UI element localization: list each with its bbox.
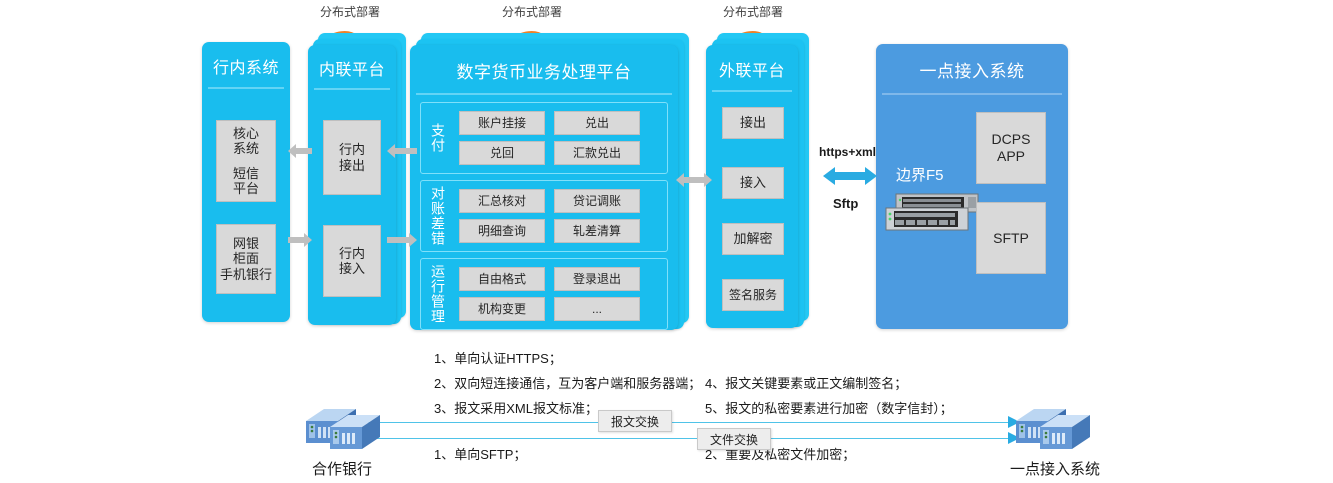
box-label: 签名服务 xyxy=(729,288,777,302)
note-left-1: 1、单向认证HTTPS； xyxy=(434,352,562,365)
panel-title-dcep-business-platform: 数字货币业务处理平台 xyxy=(410,45,678,83)
panel-intranet-platform[interactable]: 内联平台 行内 接出 行内 接入 xyxy=(308,45,396,325)
box-label-line-1: SFTP xyxy=(993,230,1029,247)
panel-external-platform[interactable]: 外联平台 接出 接入 加解密 签名服务 xyxy=(706,45,798,328)
box-label-line-4: 平台 xyxy=(233,181,259,196)
distributed-label-intranet: 分布式部署 xyxy=(305,3,395,20)
note-lower-left-1: 1、单向SFTP； xyxy=(434,448,526,461)
arrow-intranet-in-to-dcep xyxy=(387,232,417,248)
box-remittance-redeem-out[interactable]: 汇款兑出 xyxy=(554,141,640,165)
box-more[interactable]: ... xyxy=(554,297,640,321)
box-intranet-inbound[interactable]: 行内 接入 xyxy=(323,225,381,297)
box-summary-check[interactable]: 汇总核对 xyxy=(459,189,545,213)
box-label-line-2: 接出 xyxy=(339,158,365,173)
distributed-label-dcep: 分布式部署 xyxy=(487,3,577,20)
box-label: 机构变更 xyxy=(478,302,526,316)
box-label: 账户挂接 xyxy=(478,116,526,130)
panel-bank-internal-system[interactable]: 行内系统 核心 系统 短信 平台 网银 柜面 手机银行 xyxy=(202,42,290,322)
arrow-dcep-to-intranet-out xyxy=(387,143,417,159)
box-signature-service[interactable]: 签名服务 xyxy=(722,279,784,311)
box-label: 贷记调账 xyxy=(573,194,621,208)
box-label-line-1: DCPS xyxy=(992,131,1031,148)
box-label: 接出 xyxy=(740,115,766,130)
caption-partner-bank: 合作银行 xyxy=(297,458,387,479)
box-label-line-1: 核心 xyxy=(233,126,259,141)
box-label: 兑回 xyxy=(490,146,514,160)
group-operation-management: 运行管理 自由格式 登录退出 机构变更 ... xyxy=(420,258,668,330)
group-payment: 支付 账户挂接 兑出 兑回 汇款兑出 xyxy=(420,102,668,174)
box-netting-settlement[interactable]: 轧差清算 xyxy=(554,219,640,243)
box-label: 登录退出 xyxy=(573,272,621,286)
box-label-line-2: 接入 xyxy=(339,261,365,276)
title-divider xyxy=(416,93,672,95)
arrow-dcep-to-external-bidirectional xyxy=(676,172,712,188)
box-external-inbound[interactable]: 接入 xyxy=(722,167,784,199)
panel-dcep-business-platform[interactable]: 数字货币业务处理平台 支付 账户挂接 兑出 兑回 汇款兑出 对账差错 汇总核对 … xyxy=(410,45,678,330)
tag-file-exchange[interactable]: 文件交换 xyxy=(697,428,771,450)
group-reconciliation-error: 对账差错 汇总核对 贷记调账 明细查询 轧差清算 xyxy=(420,180,668,252)
box-ebank-counter-mobile[interactable]: 网银 柜面 手机银行 xyxy=(216,224,276,294)
box-label: 明细查询 xyxy=(478,224,526,238)
box-dcps-app[interactable]: DCPS APP xyxy=(976,112,1046,184)
group-label-reconciliation-error: 对账差错 xyxy=(427,181,449,251)
box-sftp[interactable]: SFTP xyxy=(976,202,1046,274)
box-redeem-out[interactable]: 兑出 xyxy=(554,111,640,135)
title-divider xyxy=(882,93,1062,95)
box-label: 兑出 xyxy=(585,116,609,130)
server-icon-partner-bank xyxy=(298,403,386,453)
box-login-logout[interactable]: 登录退出 xyxy=(554,267,640,291)
box-label: ... xyxy=(592,302,602,316)
server-icon-single-access-system xyxy=(1008,403,1096,453)
panel-title-external-platform: 外联平台 xyxy=(706,45,798,81)
panel-title-single-access-system: 一点接入系统 xyxy=(876,44,1068,82)
panel-single-access-system[interactable]: 一点接入系统 边界F5 xyxy=(876,44,1068,329)
title-divider xyxy=(208,87,284,89)
box-label-line-3: 手机银行 xyxy=(220,267,272,282)
distributed-label-external: 分布式部署 xyxy=(708,3,798,20)
tag-message-exchange[interactable]: 报文交换 xyxy=(598,410,672,432)
box-label-line-2: APP xyxy=(997,148,1025,165)
box-label-line-1: 网银 xyxy=(233,236,259,251)
box-label: 加解密 xyxy=(733,231,772,246)
box-core-system-sms-platform[interactable]: 核心 系统 短信 平台 xyxy=(216,120,276,202)
note-right-4: 4、报文关键要素或正文编制签名； xyxy=(705,377,907,390)
panel-title-bank-internal-system: 行内系统 xyxy=(202,42,290,78)
box-label-line-2: 柜面 xyxy=(233,251,259,266)
title-divider xyxy=(712,90,792,92)
note-right-5: 5、报文的私密要素进行加密（数字信封）； xyxy=(705,402,953,415)
panel-title-intranet-platform: 内联平台 xyxy=(308,45,396,80)
box-label-line-3: 短信 xyxy=(233,166,259,181)
arrow-core-to-intranet-out xyxy=(288,143,312,159)
arrow-ebank-to-intranet-in xyxy=(288,232,312,248)
box-external-outbound[interactable]: 接出 xyxy=(722,107,784,139)
group-label-payment: 支付 xyxy=(427,103,449,173)
label-sftp-connector: Sftp xyxy=(833,196,858,211)
box-label-line-1: 行内 xyxy=(339,142,365,157)
box-label: 汇总核对 xyxy=(478,194,526,208)
note-left-2: 2、双向短连接通信，互为客户端和服务器端； xyxy=(434,377,701,390)
box-institution-change[interactable]: 机构变更 xyxy=(459,297,545,321)
box-label: 自由格式 xyxy=(478,272,526,286)
box-account-linking[interactable]: 账户挂接 xyxy=(459,111,545,135)
box-label: 轧差清算 xyxy=(573,224,621,238)
box-intranet-outbound[interactable]: 行内 接出 xyxy=(323,120,381,195)
caption-single-access-system: 一点接入系统 xyxy=(995,458,1115,479)
box-redeem-back[interactable]: 兑回 xyxy=(459,141,545,165)
title-divider xyxy=(314,88,390,90)
network-switch-icon xyxy=(882,192,982,234)
box-label: 汇款兑出 xyxy=(573,146,621,160)
box-free-format[interactable]: 自由格式 xyxy=(459,267,545,291)
box-label: 接入 xyxy=(740,175,766,190)
arrow-external-to-access-bidirectional xyxy=(823,166,877,186)
box-credit-adjustment[interactable]: 贷记调账 xyxy=(554,189,640,213)
box-encryption-decryption[interactable]: 加解密 xyxy=(722,223,784,255)
label-boundary-f5: 边界F5 xyxy=(896,164,944,185)
diagram-canvas: 分布式部署 分布式部署 分布式部署 行内系统 核心 系统 短信 平台 xyxy=(0,0,1333,483)
line-message-exchange xyxy=(352,422,1012,423)
box-detail-query[interactable]: 明细查询 xyxy=(459,219,545,243)
line-file-exchange xyxy=(352,438,1012,439)
box-label-line-1: 行内 xyxy=(339,246,365,261)
note-left-3: 3、报文采用XML报文标准； xyxy=(434,402,598,415)
group-label-operation-management: 运行管理 xyxy=(427,259,449,329)
box-label-line-2: 系统 xyxy=(233,141,259,156)
label-https-xml: https+xml xyxy=(819,145,876,159)
